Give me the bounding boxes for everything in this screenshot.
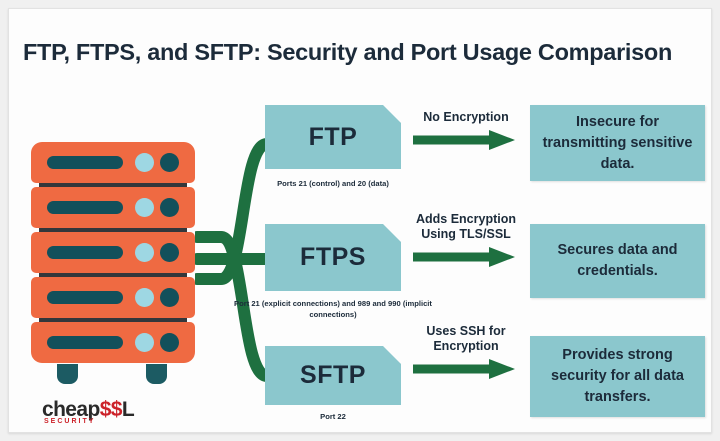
infographic-canvas: FTP, FTPS, and SFTP: Security and Port U… [0, 0, 720, 441]
rack-slot-icon [47, 201, 123, 214]
port-note-ftp: Ports 21 (control) and 20 (data) [233, 179, 433, 190]
protocol-box-sftp[interactable]: SFTP [265, 346, 401, 405]
connector-lines [195, 104, 275, 404]
rack-slot-icon [47, 156, 123, 169]
protocol-box-ftps[interactable]: FTPS [265, 224, 401, 291]
server-rack-icon [31, 142, 195, 382]
rack-leg [57, 364, 78, 384]
arrow-right-icon [411, 129, 521, 151]
rack-leg [146, 364, 167, 384]
rack-led-dark-icon [160, 198, 179, 217]
rack-led-dark-icon [160, 243, 179, 262]
arrow-label-ftps: Adds Encryption Using TLS/SSL [401, 212, 531, 242]
outcome-box-ftps[interactable]: Secures data and credentials. [530, 224, 705, 298]
rack-unit [31, 142, 195, 183]
brand-logo-dollars: $$ [100, 398, 122, 421]
arrow-group-sftp: Uses SSH for Encryption [401, 324, 531, 380]
outcome-box-ftp[interactable]: Insecure for transmitting sensitive data… [530, 105, 705, 181]
port-note-sftp: Port 22 [233, 412, 433, 423]
rack-unit [31, 277, 195, 318]
brand-logo-subtitle: SECURITY [44, 418, 95, 425]
rack-unit [31, 232, 195, 273]
page-title: FTP, FTPS, and SFTP: Security and Port U… [23, 39, 699, 66]
brand-logo-wordmark: cheap$$L [42, 399, 202, 420]
arrow-right-icon [411, 358, 521, 380]
arrow-label-ftp: No Encryption [401, 110, 531, 125]
rack-unit [31, 187, 195, 228]
protocol-box-ftp[interactable]: FTP [265, 105, 401, 169]
rack-slot-icon [47, 291, 123, 304]
arrow-right-icon [411, 246, 521, 268]
rack-led-dark-icon [160, 333, 179, 352]
rack-led-blue-icon [135, 288, 154, 307]
rack-led-blue-icon [135, 243, 154, 262]
rack-led-dark-icon [160, 153, 179, 172]
brand-logo-l: L [122, 398, 134, 421]
rack-led-blue-icon [135, 333, 154, 352]
arrow-label-sftp: Uses SSH for Encryption [401, 324, 531, 354]
brand-logo: cheap$$L SECURITY [42, 399, 202, 433]
rack-led-blue-icon [135, 198, 154, 217]
rack-unit [31, 322, 195, 363]
rack-led-dark-icon [160, 288, 179, 307]
arrow-group-ftps: Adds Encryption Using TLS/SSL [401, 212, 531, 268]
port-note-ftps: Port 21 (explicit connections) and 989 a… [233, 299, 433, 320]
arrow-group-ftp: No Encryption [401, 110, 531, 151]
rack-slot-icon [47, 336, 123, 349]
outcome-box-sftp[interactable]: Provides strong security for all data tr… [530, 336, 705, 417]
infographic-card: FTP, FTPS, and SFTP: Security and Port U… [8, 8, 712, 433]
rack-led-blue-icon [135, 153, 154, 172]
rack-slot-icon [47, 246, 123, 259]
